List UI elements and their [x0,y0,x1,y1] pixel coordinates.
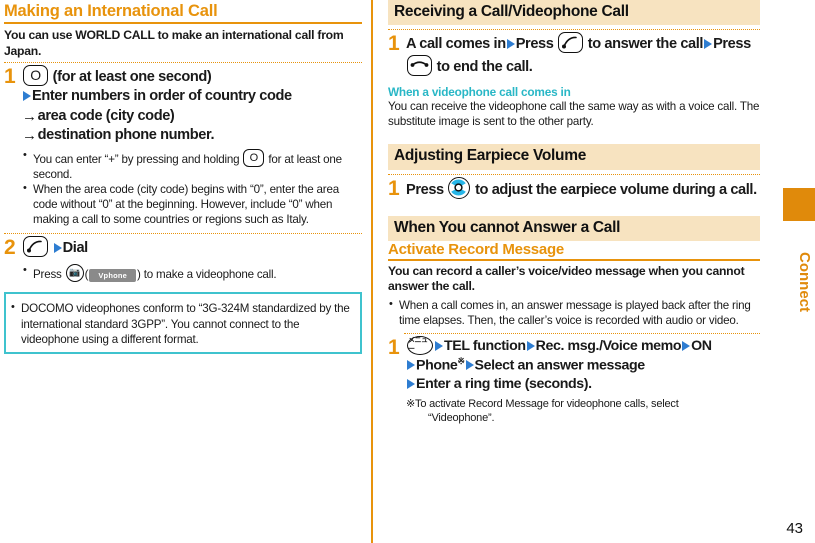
step-arrow-icon-3 [682,341,690,351]
step-part-5: Phone [416,357,457,373]
record-message-bullets: When a call comes in, an answer message … [388,298,760,328]
step-arrow-icon-2 [527,341,535,351]
step-part-4: Press [713,36,751,52]
step-part-3: to answer the call [588,36,703,52]
step-body: A call comes inPress to answer the callP… [406,32,760,77]
section-heading-cannot-answer: When You cannot Answer a Call [388,216,760,241]
side-tab-label: Connect [785,222,813,342]
step-arrow-icon-5 [466,360,474,370]
footnote-mark: ※ [406,398,415,410]
bullet-2-paren: ( [85,268,89,281]
intro-text: You can use WORLD CALL to make an intern… [4,28,362,59]
step-number: 1 [388,177,402,199]
note-box-list: DOCOMO videophones conform to “3G-324M s… [10,301,353,347]
step-arrow-icon [23,91,31,101]
step-part-1: Press [406,182,444,198]
step-part-4: ON [691,338,711,354]
section-heading-receiving-call: Receiving a Call/Videophone Call [388,0,760,25]
step-arrow-icon [54,243,62,253]
step-2-bullets: Press 📷 (Vphone) to make a videophone ca… [22,264,362,283]
step-body: メニューTEL functionRec. msg./Voice memoON P… [406,336,760,394]
step-2-number: 2 [4,236,18,258]
footnote-marker: ※ [457,356,464,366]
receiving-call-step-1: 1 A call comes inPress to answer the cal… [388,32,760,77]
bullet-item: You can enter “+” by pressing and holdin… [22,149,362,182]
step-number: 1 [388,336,402,358]
step-part-5: to end the call. [437,59,533,75]
column-divider [371,0,373,543]
call-key-icon [23,236,48,257]
step-separator-2 [4,233,362,234]
section2-separator [388,174,760,175]
end-key-icon [407,55,432,76]
footnote-text-2: “Videophone”. [417,411,760,425]
step-arrow-icon-4 [407,360,415,370]
footnote-text: To activate Record Message for videophon… [415,398,679,410]
camera-tv-key-icon: 📷 [66,264,84,282]
step-1-bullets: You can enter “+” by pressing and holdin… [22,149,362,227]
step-part-7: Enter a ring time (seconds). [416,376,592,392]
step-part-2: to adjust the earpiece volume during a c… [475,182,757,198]
earpiece-volume-step-1: 1 Press to adjust the earpiece volume du… [388,177,760,200]
videophone-subtext: You can receive the videophone call the … [388,100,760,130]
step-arrow-icon-2 [704,39,712,49]
section-heading-earpiece-volume: Adjusting Earpiece Volume [388,144,760,169]
step-part-1: A call comes in [406,36,506,52]
right-arrow-icon: → [22,107,37,127]
step-part-2: Press [516,36,554,52]
right-arrow-icon-2: → [22,126,37,146]
step-2-label: Dial [63,240,88,256]
note-box-item: DOCOMO videophones conform to “3G-324M s… [10,301,353,347]
subsection-activate-record-message: Activate Record Message [388,242,760,261]
zero-key-icon: O [23,65,48,86]
call-key-icon [558,32,583,53]
record-message-lead: You can record a caller’s voice/video me… [388,264,760,295]
bullet-item: When the area code (city code) begins wi… [22,182,362,227]
bullet-2-pre: Press [33,268,62,281]
page-title: Making an International Call [4,3,362,24]
step-2: 2 Dial [4,236,362,258]
page-number: 43 [786,520,803,537]
menu-key-icon: メニュー [407,336,433,355]
section1-separator [388,29,760,30]
step-arrow-icon [435,341,443,351]
zero-key-icon-inline: O [243,149,264,167]
bullet-2-post: ) to make a videophone call. [137,268,276,281]
manual-page: Making an International Call You can use… [0,0,815,543]
step-part-6: Select an answer message [475,357,645,373]
step-1-line-2: Enter numbers in order of country code [32,88,292,104]
step-1-number: 1 [4,65,18,87]
step-number: 1 [388,32,402,54]
right-column: Receiving a Call/Videophone Call 1 A cal… [388,0,760,425]
step-1-body: O (for at least one second) Enter number… [22,65,362,146]
step-part-1: TEL function [444,338,526,354]
step-arrow-icon-6 [407,379,415,389]
videophone-subheading: When a videophone call comes in [388,85,760,99]
bullet-item: When a call comes in, an answer message … [388,298,760,328]
note-box: DOCOMO videophones conform to “3G-324M s… [4,292,362,354]
menu-key-label: メニュー [408,337,432,354]
bullet-1-pre: You can enter “+” by pressing and holdin… [33,153,239,166]
step-separator [4,62,362,63]
step-1-line-1: (for at least one second) [53,69,212,85]
multi-function-key-icon [448,177,470,199]
step-body: Press to adjust the earpiece volume duri… [406,177,760,200]
step-1: 1 O (for at least one second) Enter numb… [4,65,362,146]
step-2-body: Dial [22,236,362,258]
footnote: ※To activate Record Message for videopho… [406,397,760,425]
step-part-2: Rec. msg./Voice memo [536,338,682,354]
vphone-softkey-badge: Vphone [89,269,136,282]
section3-separator [404,333,760,334]
side-tab-block [783,188,815,221]
step-1-line-3: area code (city code) [38,108,175,124]
step-arrow-icon [507,39,515,49]
step-1-line-4: destination phone number. [38,127,214,143]
bullet-item: Press 📷 (Vphone) to make a videophone ca… [22,264,362,283]
left-column: Making an International Call You can use… [0,0,370,354]
record-message-step-1: 1 メニューTEL functionRec. msg./Voice memoON… [388,336,760,394]
